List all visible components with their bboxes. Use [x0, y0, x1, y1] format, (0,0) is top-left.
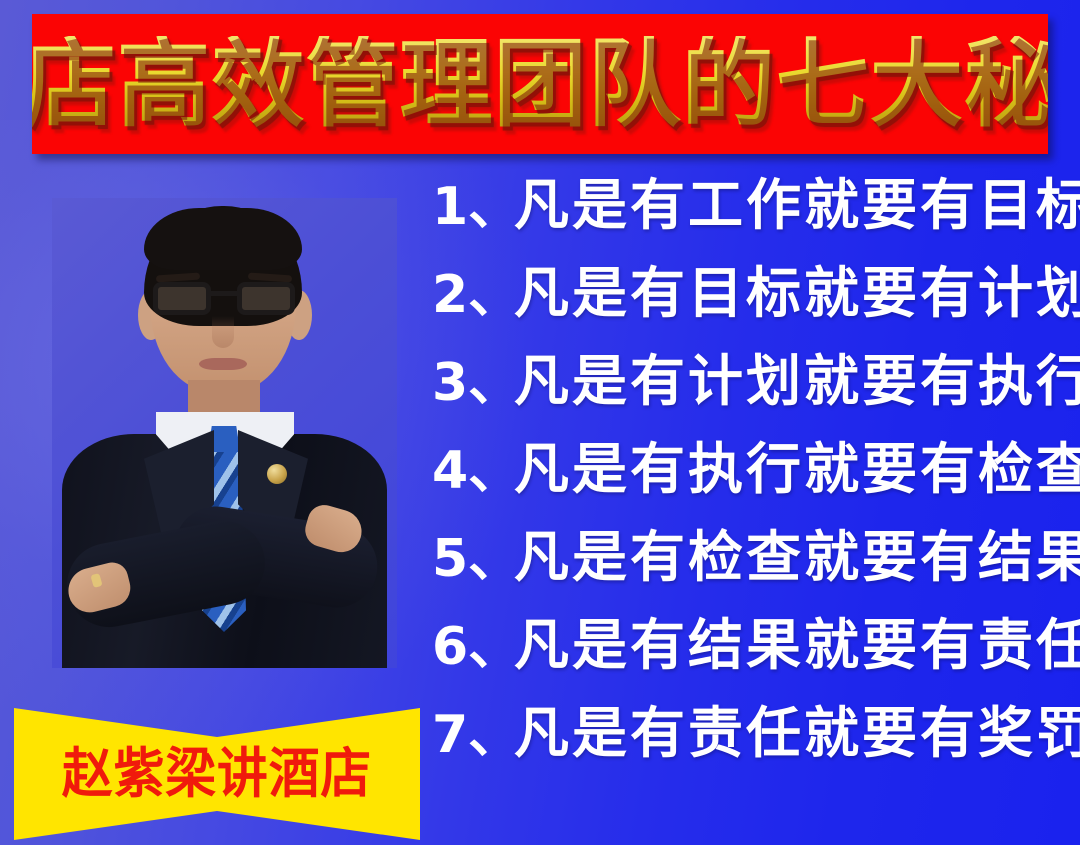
portrait-photo: [52, 198, 397, 668]
list-item: 1、 凡是有工作就要有目标: [432, 178, 1058, 266]
principles-list: 1、 凡是有工作就要有目标 2、 凡是有目标就要有计划 3、 凡是有计划就要有执…: [432, 178, 1058, 794]
list-item-text: 凡是有计划就要有执行: [514, 354, 1080, 409]
poster-canvas: 酒店高效管理团队的七大秘诀: [0, 0, 1080, 845]
list-item: 2、 凡是有目标就要有计划: [432, 266, 1058, 354]
nose: [212, 316, 234, 348]
list-item-number: 1、: [432, 181, 514, 233]
title-banner: 酒店高效管理团队的七大秘诀: [32, 14, 1048, 154]
list-item: 5、 凡是有检查就要有结果: [432, 530, 1058, 618]
list-item: 7、 凡是有责任就要有奖罚: [432, 706, 1058, 794]
list-item-text: 凡是有执行就要有检查: [514, 442, 1080, 497]
list-item-text: 凡是有检查就要有结果: [514, 530, 1080, 585]
list-item-number: 7、: [432, 709, 514, 761]
hair-fringe: [144, 208, 302, 270]
portrait-figure: [52, 198, 397, 668]
list-item-text: 凡是有目标就要有计划: [514, 266, 1080, 321]
photo-bottom-fade: [52, 638, 397, 668]
list-item-number: 5、: [432, 533, 514, 585]
list-item-text: 凡是有责任就要有奖罚: [514, 706, 1080, 761]
brand-ribbon: 赵紫梁讲酒店: [14, 708, 420, 840]
poster-title: 酒店高效管理团队的七大秘诀: [32, 36, 1048, 132]
list-item-text: 凡是有工作就要有目标: [514, 178, 1080, 233]
list-item: 3、 凡是有计划就要有执行: [432, 354, 1058, 442]
glasses-icon: [153, 282, 295, 316]
list-item-number: 4、: [432, 445, 514, 497]
list-item-number: 3、: [432, 357, 514, 409]
list-item-number: 2、: [432, 269, 514, 321]
list-item: 6、 凡是有结果就要有责任: [432, 618, 1058, 706]
list-item: 4、 凡是有执行就要有检查: [432, 442, 1058, 530]
list-item-number: 6、: [432, 621, 514, 673]
glasses-bridge: [211, 291, 237, 296]
list-item-text: 凡是有结果就要有责任: [514, 618, 1080, 673]
glasses-lens-left: [153, 282, 211, 315]
lapel-pin-icon: [267, 464, 287, 484]
brand-name: 赵紫梁讲酒店: [62, 747, 372, 801]
mouth: [199, 358, 247, 370]
glasses-lens-right: [237, 282, 295, 315]
